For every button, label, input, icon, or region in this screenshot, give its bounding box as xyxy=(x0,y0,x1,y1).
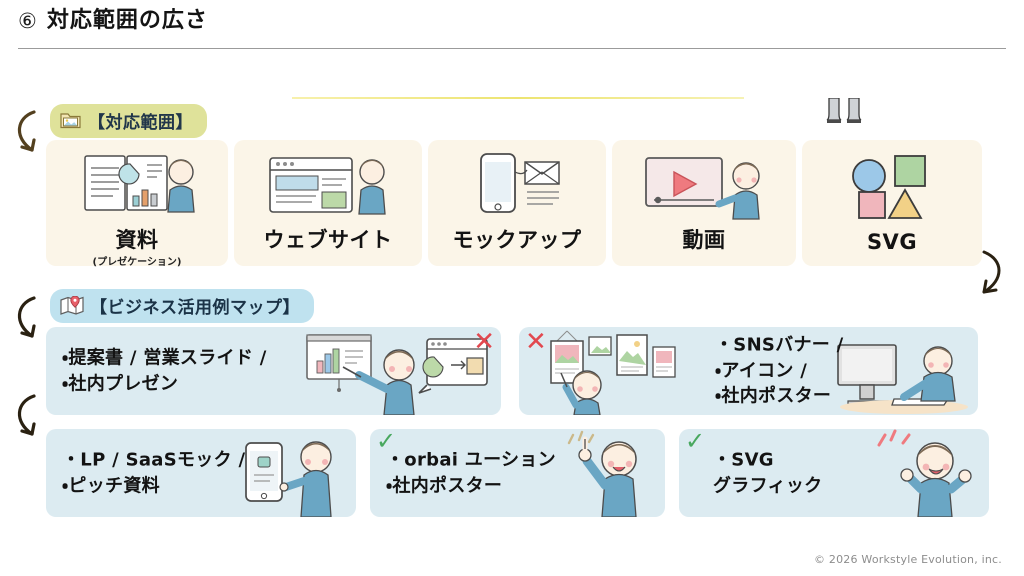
section-badge-business-map: 【ビジネス活用例マップ】 xyxy=(50,289,314,323)
scope-card-mockup[interactable]: モックアップ xyxy=(428,140,606,266)
folder-image-icon xyxy=(60,111,82,130)
scope-card-label: 動画 xyxy=(612,224,796,254)
page-title: ⑥ 対応範囲の広さ xyxy=(18,10,208,32)
bullet-line: ・社内ポスター xyxy=(715,384,844,410)
browser-window-icon xyxy=(234,148,422,226)
map-row-1: ・提案書 / 営業スライド / ・社内プレゼン xyxy=(46,327,978,415)
map-pin-icon xyxy=(60,296,84,316)
curved-arrow-icon xyxy=(8,392,48,444)
status-mark-x: ✕ xyxy=(473,329,495,355)
bullet-line: ・社内プレゼン xyxy=(62,371,267,397)
map-row-2: ・LP / SaaSモック / ・ピッチ資料 xyxy=(46,429,989,517)
scope-card-video[interactable]: 動画 xyxy=(612,140,796,266)
bullet-line: ・社内ポスター xyxy=(386,473,556,499)
status-mark-check: ✓ xyxy=(685,429,705,453)
scope-card-document[interactable]: 資料 (プレゼケーション) xyxy=(46,140,228,266)
slide-number-marker: ⑥ xyxy=(18,11,37,32)
presentation-board-person-icon xyxy=(301,327,501,415)
bullet-line: ・提案書 / 営業スライド / xyxy=(62,345,267,371)
smartphone-mail-icon xyxy=(428,148,606,226)
status-mark-check: ✓ xyxy=(376,429,396,453)
section-badge-scope-label: 【対応範囲】 xyxy=(88,108,193,133)
standing-legs-icon xyxy=(824,98,864,124)
scope-card-row: 資料 (プレゼケーション) xyxy=(46,140,982,266)
scope-card-label: ウェブサイト xyxy=(234,224,422,254)
scope-card-label: 資料 xyxy=(46,224,228,254)
map-card-svg-graphic[interactable]: ・SVG グラフィック xyxy=(679,429,989,517)
map-card-bullets: ・SVG グラフィック xyxy=(713,447,822,498)
cheering-person-icon xyxy=(863,429,983,517)
gallery-wall-person-icon xyxy=(529,327,719,415)
scope-card-label: モックアップ xyxy=(428,224,606,254)
bullet-line: ・LP / SaaSモック / xyxy=(62,447,245,473)
map-card-proposal[interactable]: ・提案書 / 営業スライド / ・社内プレゼン xyxy=(46,327,501,415)
slide-root: ⑥ 対応範囲の広さ 【対応範囲】 xyxy=(0,0,1024,576)
bullet-line: ・アイコン / xyxy=(715,358,844,384)
scope-card-label: SVG xyxy=(802,230,982,254)
scope-card-website[interactable]: ウェブサイト xyxy=(234,140,422,266)
map-card-orbai[interactable]: ・orbai ユーション ・社内ポスター xyxy=(370,429,665,517)
bullet-line: ・SVG xyxy=(713,447,822,473)
desktop-person-icon xyxy=(828,327,978,415)
curved-arrow-icon xyxy=(976,248,1016,302)
bullet-line: ・ピッチ資料 xyxy=(62,473,245,499)
pointing-up-person-icon xyxy=(551,429,661,517)
accent-line xyxy=(292,97,744,99)
title-divider xyxy=(18,48,1006,49)
scope-card-sublabel: (プレゼケーション) xyxy=(46,253,228,268)
tablet-person-icon xyxy=(234,429,354,517)
scope-card-svg[interactable]: SVG xyxy=(802,140,982,266)
status-mark-x: ✕ xyxy=(525,329,547,355)
map-card-bullets: ・SNSバナー / ・アイコン / ・社内ポスター xyxy=(715,333,844,410)
curved-arrow-icon xyxy=(8,108,48,160)
shapes-icon xyxy=(802,148,982,226)
bullet-line: ・SNSバナー / xyxy=(715,333,844,359)
section-badge-scope: 【対応範囲】 xyxy=(50,104,207,138)
video-play-person-icon xyxy=(612,148,796,226)
section-badge-business-map-label: 【ビジネス活用例マップ】 xyxy=(90,293,300,318)
documents-chart-person-icon xyxy=(46,148,228,226)
map-card-bullets: ・orbai ユーション ・社内ポスター xyxy=(386,447,556,498)
slide-title-text: 対応範囲の広さ xyxy=(47,10,208,32)
bullet-line: ・orbai ユーション xyxy=(386,447,556,473)
map-card-bullets: ・LP / SaaSモック / ・ピッチ資料 xyxy=(62,447,245,498)
curved-arrow-icon xyxy=(8,294,48,346)
footer-copyright: © 2026 Workstyle Evolution, inc. xyxy=(814,553,1002,566)
map-card-sns[interactable]: ・SNSバナー / ・アイコン / ・社内ポスター xyxy=(519,327,978,415)
bullet-line: グラフィック xyxy=(713,473,822,499)
map-card-lp[interactable]: ・LP / SaaSモック / ・ピッチ資料 xyxy=(46,429,356,517)
map-card-bullets: ・提案書 / 営業スライド / ・社内プレゼン xyxy=(62,345,267,396)
